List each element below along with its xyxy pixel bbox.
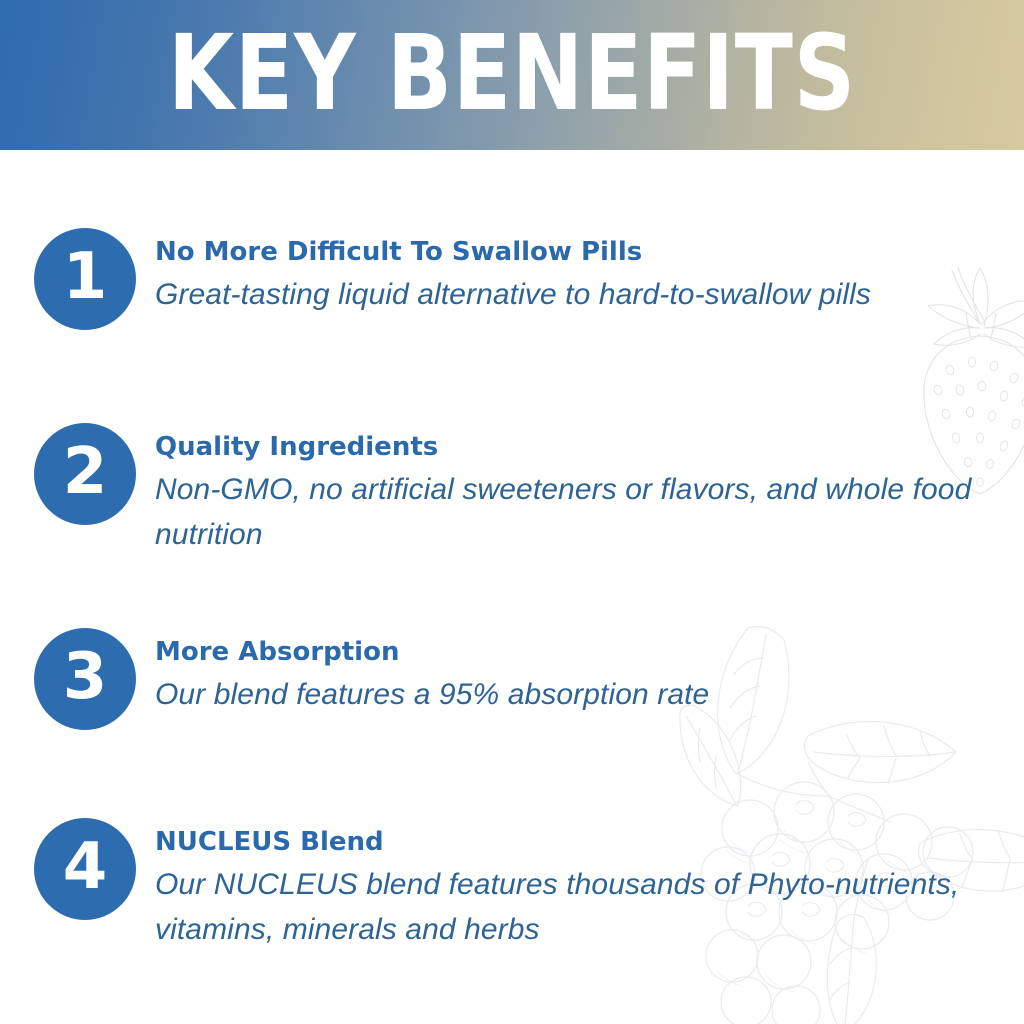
benefit-number-badge: 2: [34, 423, 136, 525]
benefit-text-block: NUCLEUS Blend Our NUCLEUS blend features…: [155, 826, 1021, 952]
benefit-description: Great-tasting liquid alternative to hard…: [155, 272, 1021, 317]
benefit-description: Our blend features a 95% absorption rate: [155, 672, 1021, 717]
header-banner: KEY BENEFITS: [0, 0, 1024, 150]
benefit-text-block: More Absorption Our blend features a 95%…: [155, 636, 1021, 717]
key-benefits-page: KEY BENEFITS: [0, 0, 1024, 1024]
benefits-list: 1 No More Difficult To Swallow Pills Gre…: [0, 150, 1024, 1024]
benefit-heading: No More Difficult To Swallow Pills: [155, 236, 1021, 268]
benefit-description: Our NUCLEUS blend features thousands of …: [155, 862, 1021, 952]
benefit-number-badge: 4: [34, 818, 136, 920]
benefit-description: Non-GMO, no artificial sweeteners or fla…: [155, 467, 1021, 557]
page-title: KEY BENEFITS: [92, 0, 932, 150]
benefit-heading: Quality Ingredients: [155, 431, 1021, 463]
benefit-number-badge: 3: [34, 628, 136, 730]
benefit-text-block: No More Difficult To Swallow Pills Great…: [155, 236, 1021, 317]
benefit-heading: NUCLEUS Blend: [155, 826, 1021, 858]
benefit-heading: More Absorption: [155, 636, 1021, 668]
benefit-number-badge: 1: [34, 228, 136, 330]
benefit-text-block: Quality Ingredients Non-GMO, no artifici…: [155, 431, 1021, 557]
